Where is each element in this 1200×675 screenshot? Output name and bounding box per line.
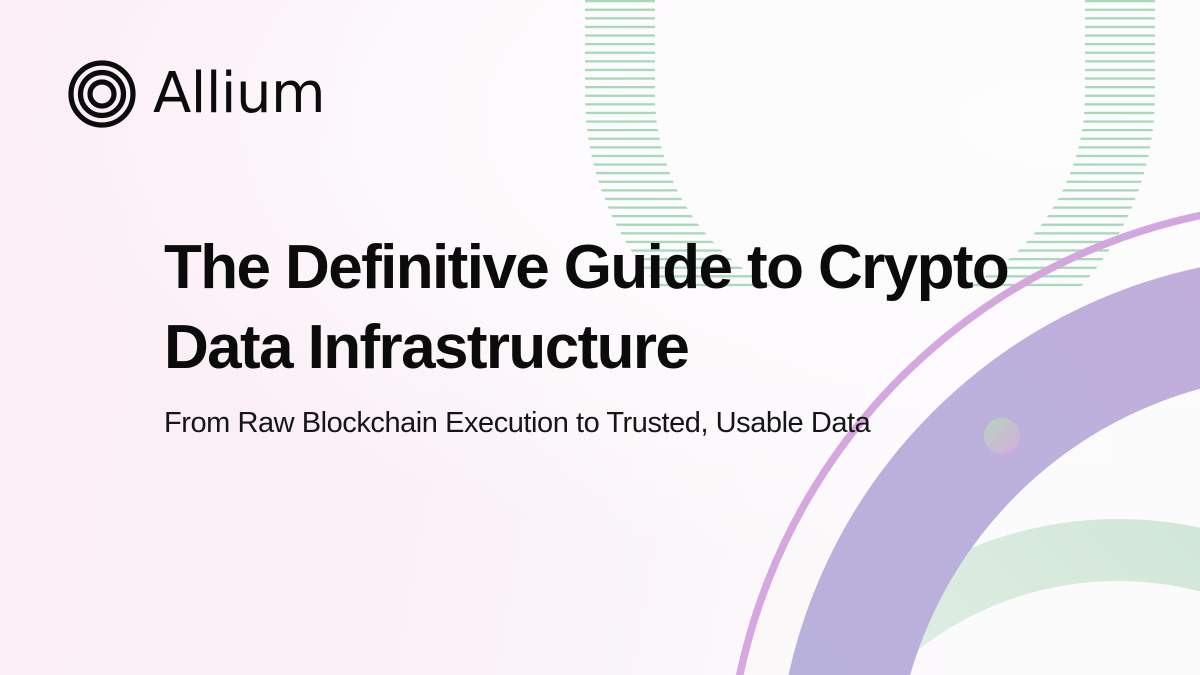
page-title: The Definitive Guide to CryptoData Infra… xyxy=(164,228,1064,388)
title-line-2: Data Infrastructure xyxy=(164,313,688,382)
title-slide: Allium The Definitive Guide to CryptoDat… xyxy=(0,0,1200,675)
brand-name: Allium xyxy=(153,66,325,122)
page-subtitle: From Raw Blockchain Execution to Trusted… xyxy=(164,404,1064,442)
hero-text-block: The Definitive Guide to CryptoData Infra… xyxy=(164,228,1064,442)
brand-logo[interactable]: Allium xyxy=(68,60,325,128)
concentric-circles-icon xyxy=(68,60,136,128)
title-line-1: The Definitive Guide to Crypto xyxy=(164,233,1008,302)
